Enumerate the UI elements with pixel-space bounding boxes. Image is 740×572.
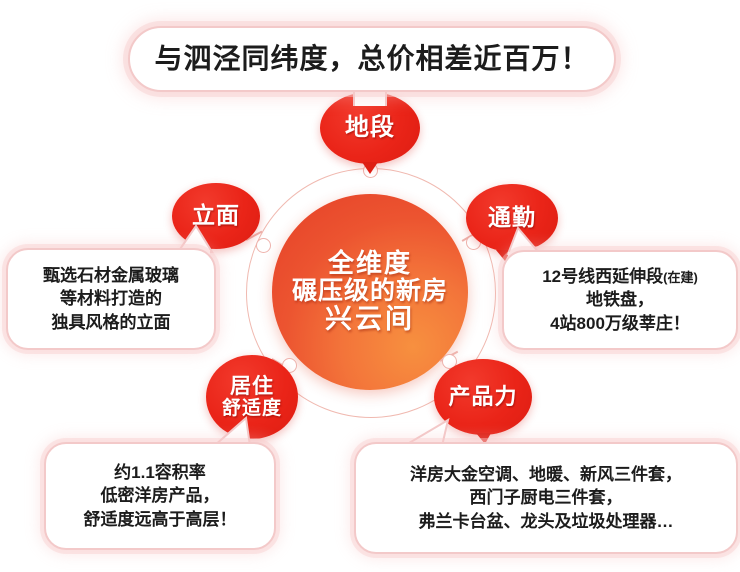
center-line-3: 兴云间 — [325, 305, 415, 335]
node-comfort-label-2: 舒适度 — [222, 399, 282, 418]
callout-facade-text: 甄选石材金属玻璃 等材料打造的 独具风格的立面 — [43, 264, 179, 334]
callout-product-line-3: 弗兰卡台盆、龙头及垃圾处理器… — [410, 510, 682, 533]
infographic-canvas: 与泗泾同纬度，总价相差近百万！ 全维度 碾压级的新房 兴云间 地段 立面 通勤 … — [0, 0, 740, 572]
node-facade-label: 立面 — [192, 204, 240, 227]
center-line-2: 碾压级的新房 — [292, 277, 448, 305]
connector-knob-facade — [256, 238, 271, 253]
node-product[interactable]: 产品力 — [434, 359, 532, 435]
callout-commute-line-2: 地铁盘， — [542, 288, 698, 311]
callout-comfort: 约1.1容积率 低密洋房产品， 舒适度远高于高层！ — [44, 442, 276, 550]
callout-facade: 甄选石材金属玻璃 等材料打造的 独具风格的立面 — [6, 248, 216, 350]
callout-product: 洋房大金空调、地暖、新风三件套， 西门子厨电三件套， 弗兰卡台盆、龙头及垃圾处理… — [354, 442, 738, 554]
callout-product-line-1: 洋房大金空调、地暖、新风三件套， — [410, 463, 682, 486]
center-hub: 全维度 碾压级的新房 兴云间 — [272, 194, 468, 390]
callout-facade-line-3: 独具风格的立面 — [43, 311, 179, 334]
callout-commute-text: 12号线西延伸段(在建) 地铁盘， 4站800万级莘庄！ — [542, 265, 698, 335]
callout-product-text: 洋房大金空调、地暖、新风三件套， 西门子厨电三件套， 弗兰卡台盆、龙头及垃圾处理… — [410, 463, 682, 533]
callout-commute: 12号线西延伸段(在建) 地铁盘， 4站800万级莘庄！ — [502, 250, 738, 350]
node-location-label: 地段 — [345, 116, 395, 140]
callout-commute-line-1-note: (在建) — [663, 270, 698, 285]
callout-comfort-line-1: 约1.1容积率 — [84, 461, 237, 484]
center-line-1: 全维度 — [328, 249, 412, 277]
callout-commute-line-1: 12号线西延伸段(在建) — [542, 265, 698, 288]
node-comfort[interactable]: 居住 舒适度 — [206, 355, 298, 439]
callout-comfort-line-2: 低密洋房产品， — [84, 484, 237, 507]
callout-commute-line-3: 4站800万级莘庄！ — [542, 312, 698, 335]
node-location-tail — [362, 162, 378, 174]
node-commute[interactable]: 通勤 — [466, 184, 558, 252]
node-facade[interactable]: 立面 — [172, 183, 260, 249]
callout-commute-line-1-main: 12号线西延伸段 — [542, 267, 663, 286]
callout-comfort-text: 约1.1容积率 低密洋房产品， 舒适度远高于高层！ — [84, 461, 237, 531]
node-commute-label: 通勤 — [488, 206, 536, 229]
headline-banner: 与泗泾同纬度，总价相差近百万！ — [128, 26, 616, 92]
callout-product-line-2: 西门子厨电三件套， — [410, 486, 682, 509]
node-comfort-label: 居住 — [230, 376, 274, 397]
node-product-label: 产品力 — [448, 386, 517, 408]
callout-facade-line-1: 甄选石材金属玻璃 — [43, 264, 179, 287]
headline-text: 与泗泾同纬度，总价相差近百万！ — [154, 45, 589, 73]
callout-facade-line-2: 等材料打造的 — [43, 287, 179, 310]
callout-comfort-line-3: 舒适度远高于高层！ — [84, 508, 237, 531]
